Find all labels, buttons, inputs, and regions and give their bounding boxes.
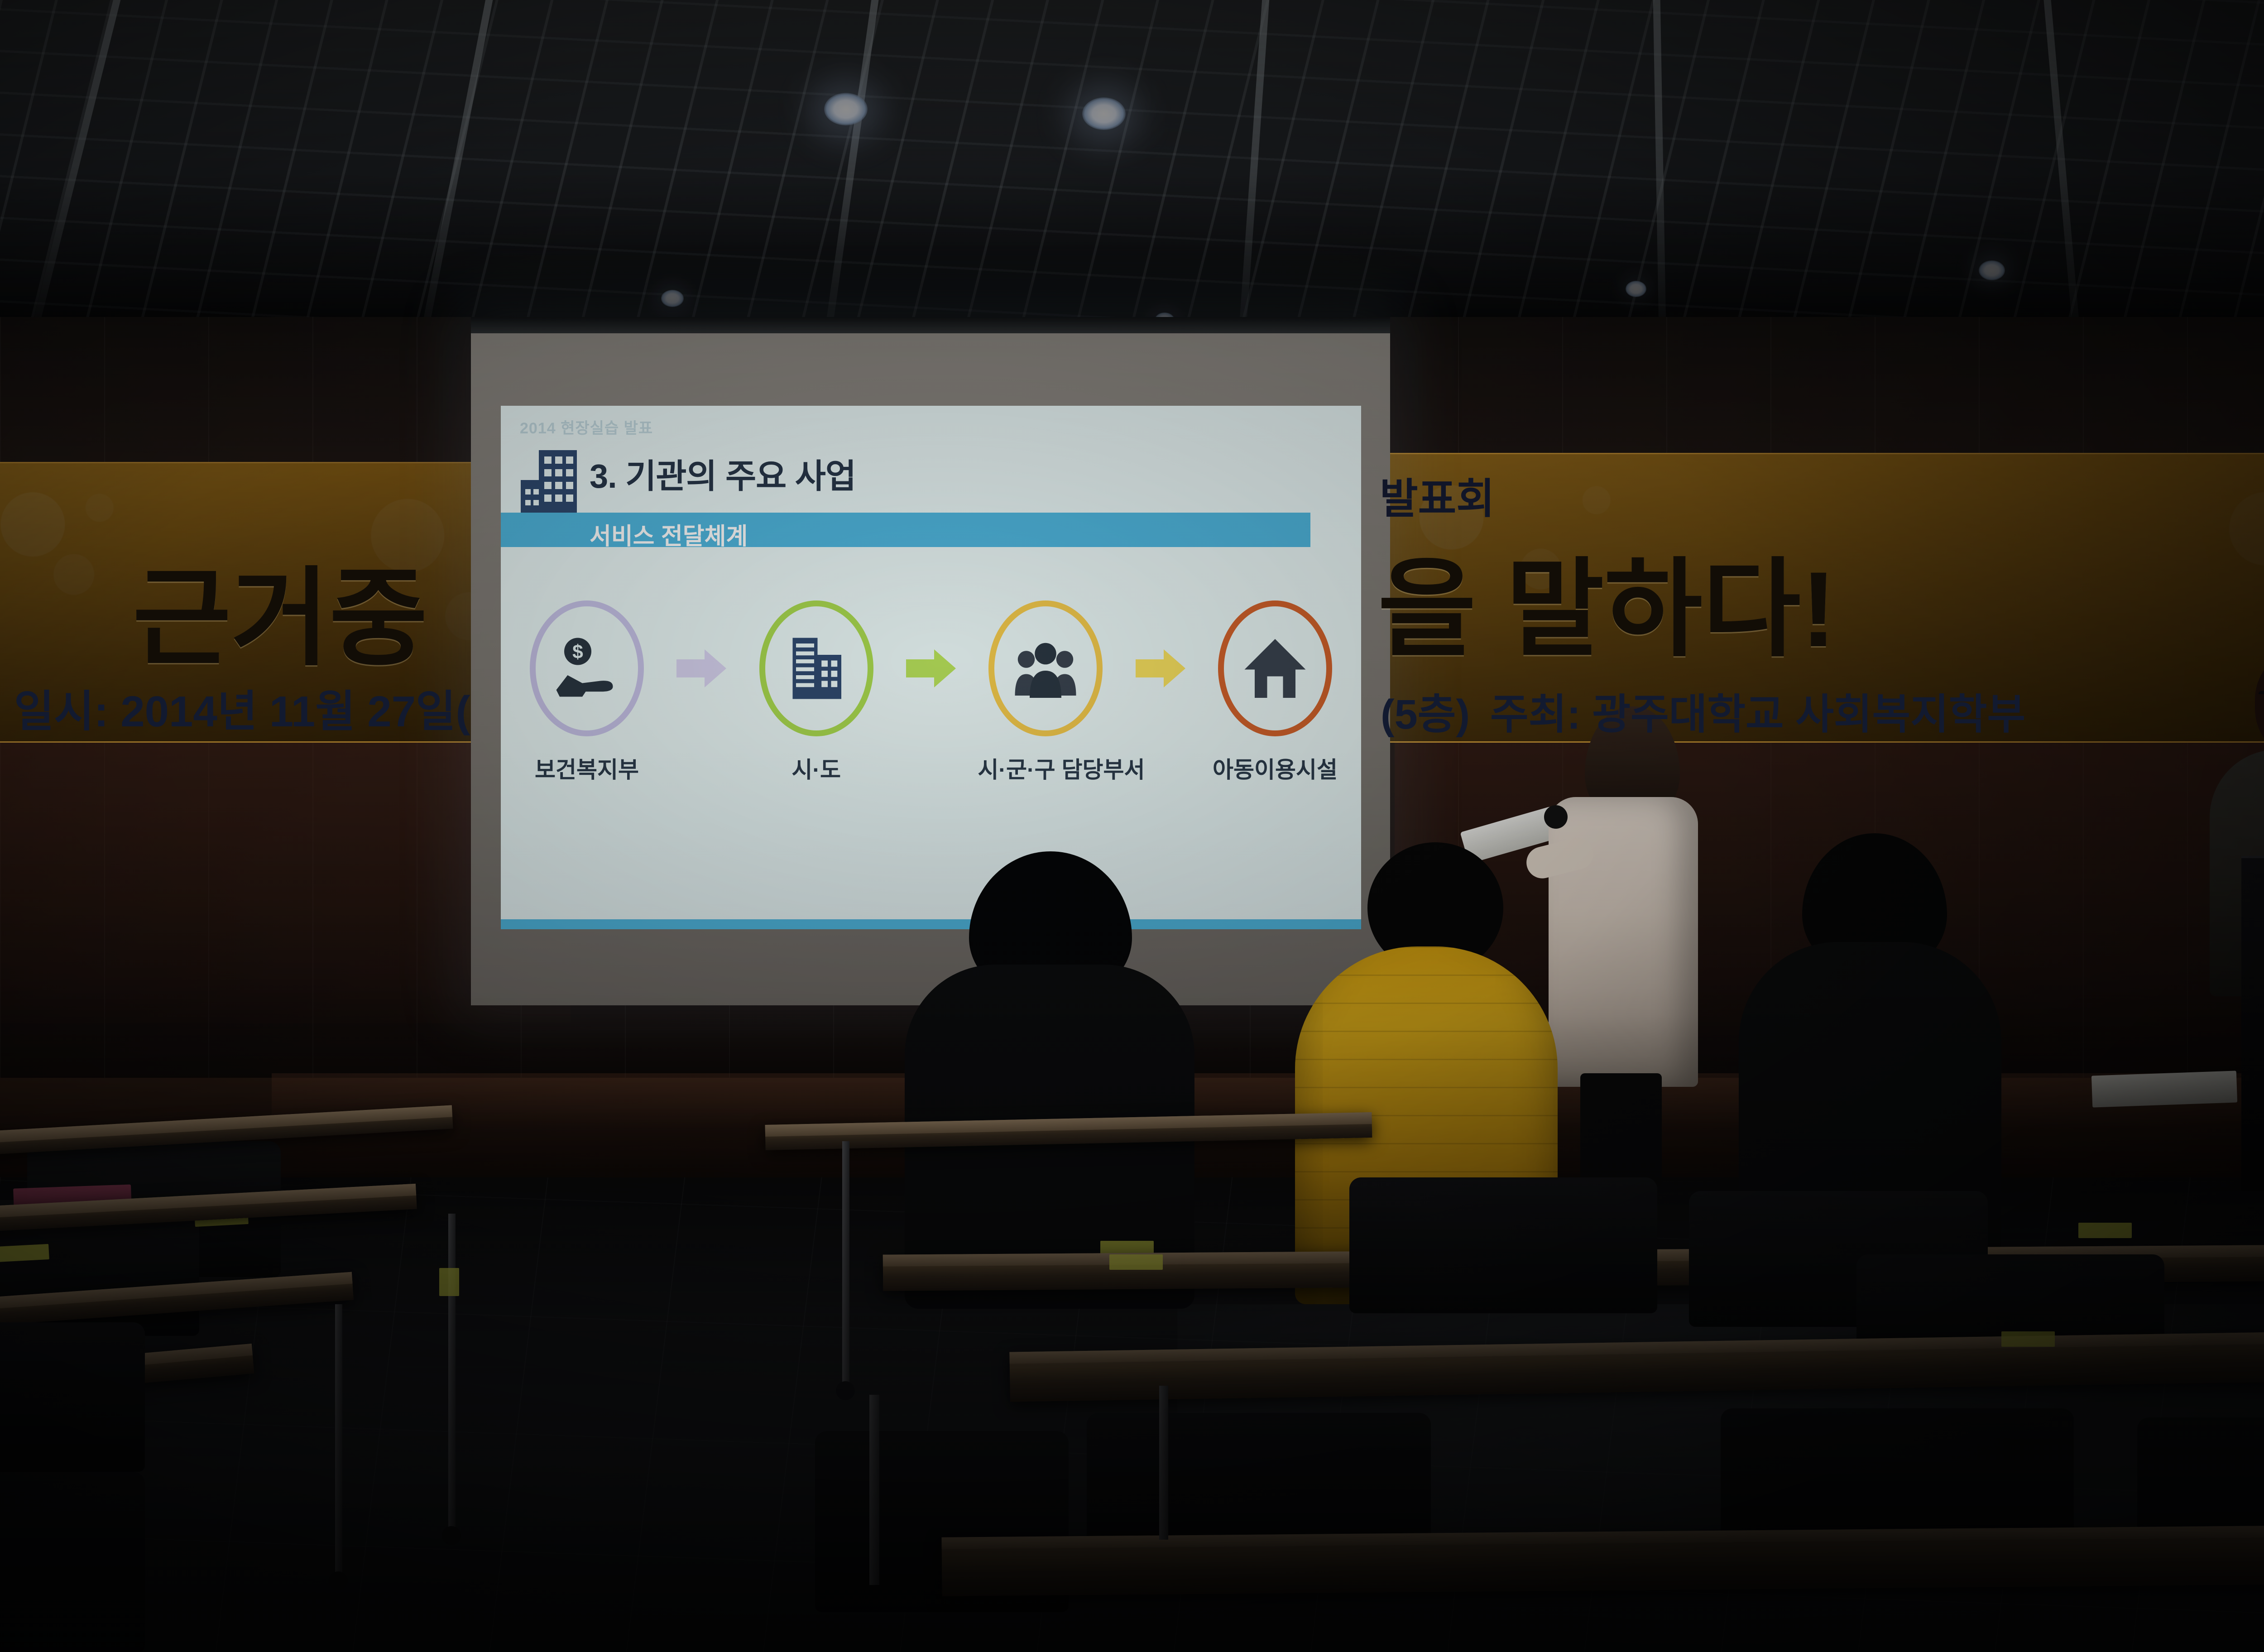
audience-silhouette-1 (887, 851, 1204, 1304)
flow-arrow-2 (904, 600, 958, 736)
ceiling (0, 0, 2264, 344)
flow-ring-1: $ (530, 600, 644, 736)
flow-arrow-3 (1134, 600, 1187, 736)
table-caster (329, 1571, 348, 1590)
flow-label-3: 시·군·구 담당부서 (978, 752, 1113, 784)
hand-money-icon: $ (553, 634, 621, 702)
flow-label-2: 시·도 (748, 752, 884, 784)
house-icon (1241, 634, 1309, 702)
yellow-tape-marker (0, 1244, 49, 1262)
presenter-legs (1580, 1073, 1662, 1186)
flow-ring-3 (988, 600, 1103, 736)
flow-ring-4 (1218, 600, 1332, 736)
office-building-icon (782, 634, 850, 702)
flow-ring-2 (759, 600, 873, 736)
yellow-tape-marker (1109, 1254, 1163, 1270)
banner-right-venue: (5층) (1381, 681, 1470, 741)
table-leg (869, 1395, 879, 1585)
ceiling-shadow-gradient (0, 0, 2264, 344)
yellow-tape-marker (439, 1268, 459, 1296)
screen-top-rail (471, 317, 1390, 333)
banner-right-subtitle: 발표회 (1380, 465, 1495, 525)
banner-right-title: 을 말하다! (1378, 522, 1837, 677)
slide-section-bar-label: 서비스 전달체계 (590, 517, 748, 551)
stack-of-papers (2091, 1071, 2237, 1107)
slide-eyebrow-text: 2014 현장실습 발표 (520, 416, 653, 438)
table-leg (1159, 1386, 1168, 1540)
podium: 대학교 (2241, 856, 2264, 1191)
projected-slide: 2014 현장실습 발표 (501, 406, 1361, 929)
slide-heading: 3. 기관의 주요 사업 (590, 449, 856, 498)
flow-label-4: 아동이용시설 (1207, 752, 1343, 784)
yellow-tape-marker (2078, 1223, 2132, 1238)
svg-text:$: $ (572, 642, 583, 663)
banner-right-host: 주최: 광주대학교 사회복지학부 (1490, 681, 2025, 741)
lecture-hall-scene: 근거중 일시: 2014년 11월 27일( 발표회 을 말하다! (5층) 주… (0, 0, 2264, 1652)
flow-label-1: 보건복지부 (519, 752, 655, 784)
yellow-tape-marker (2001, 1331, 2055, 1347)
people-group-icon (1012, 634, 1079, 702)
table-leg (335, 1304, 342, 1585)
flow-node-2: 시·도 (748, 600, 884, 784)
table-caster (442, 1526, 461, 1545)
banner-left-title: 근거중 (133, 531, 427, 686)
flow-node-3: 시·군·구 담당부서 (978, 600, 1113, 784)
stacking-chair (0, 1322, 145, 1472)
banner-left: 근거중 일시: 2014년 11월 27일( (0, 462, 512, 743)
flow-node-4: 아동이용시설 (1207, 600, 1343, 784)
flow-node-1: $ 보건복지부 (519, 600, 655, 784)
table-leg (448, 1214, 456, 1540)
flow-arrow-1 (675, 600, 728, 736)
banner-right: 발표회 을 말하다! (5층) 주최: 광주대학교 사회복지학부 (1372, 453, 2264, 743)
service-delivery-flow-diagram: $ 보건복지부 (519, 600, 1343, 854)
microphone-icon (1544, 805, 1568, 829)
stacking-chair (0, 1472, 145, 1652)
stacking-chair (1349, 1177, 1657, 1313)
table-caster (836, 1381, 855, 1400)
banner-left-date: 일시: 2014년 11월 27일( (14, 676, 470, 739)
table-leg (842, 1141, 849, 1395)
